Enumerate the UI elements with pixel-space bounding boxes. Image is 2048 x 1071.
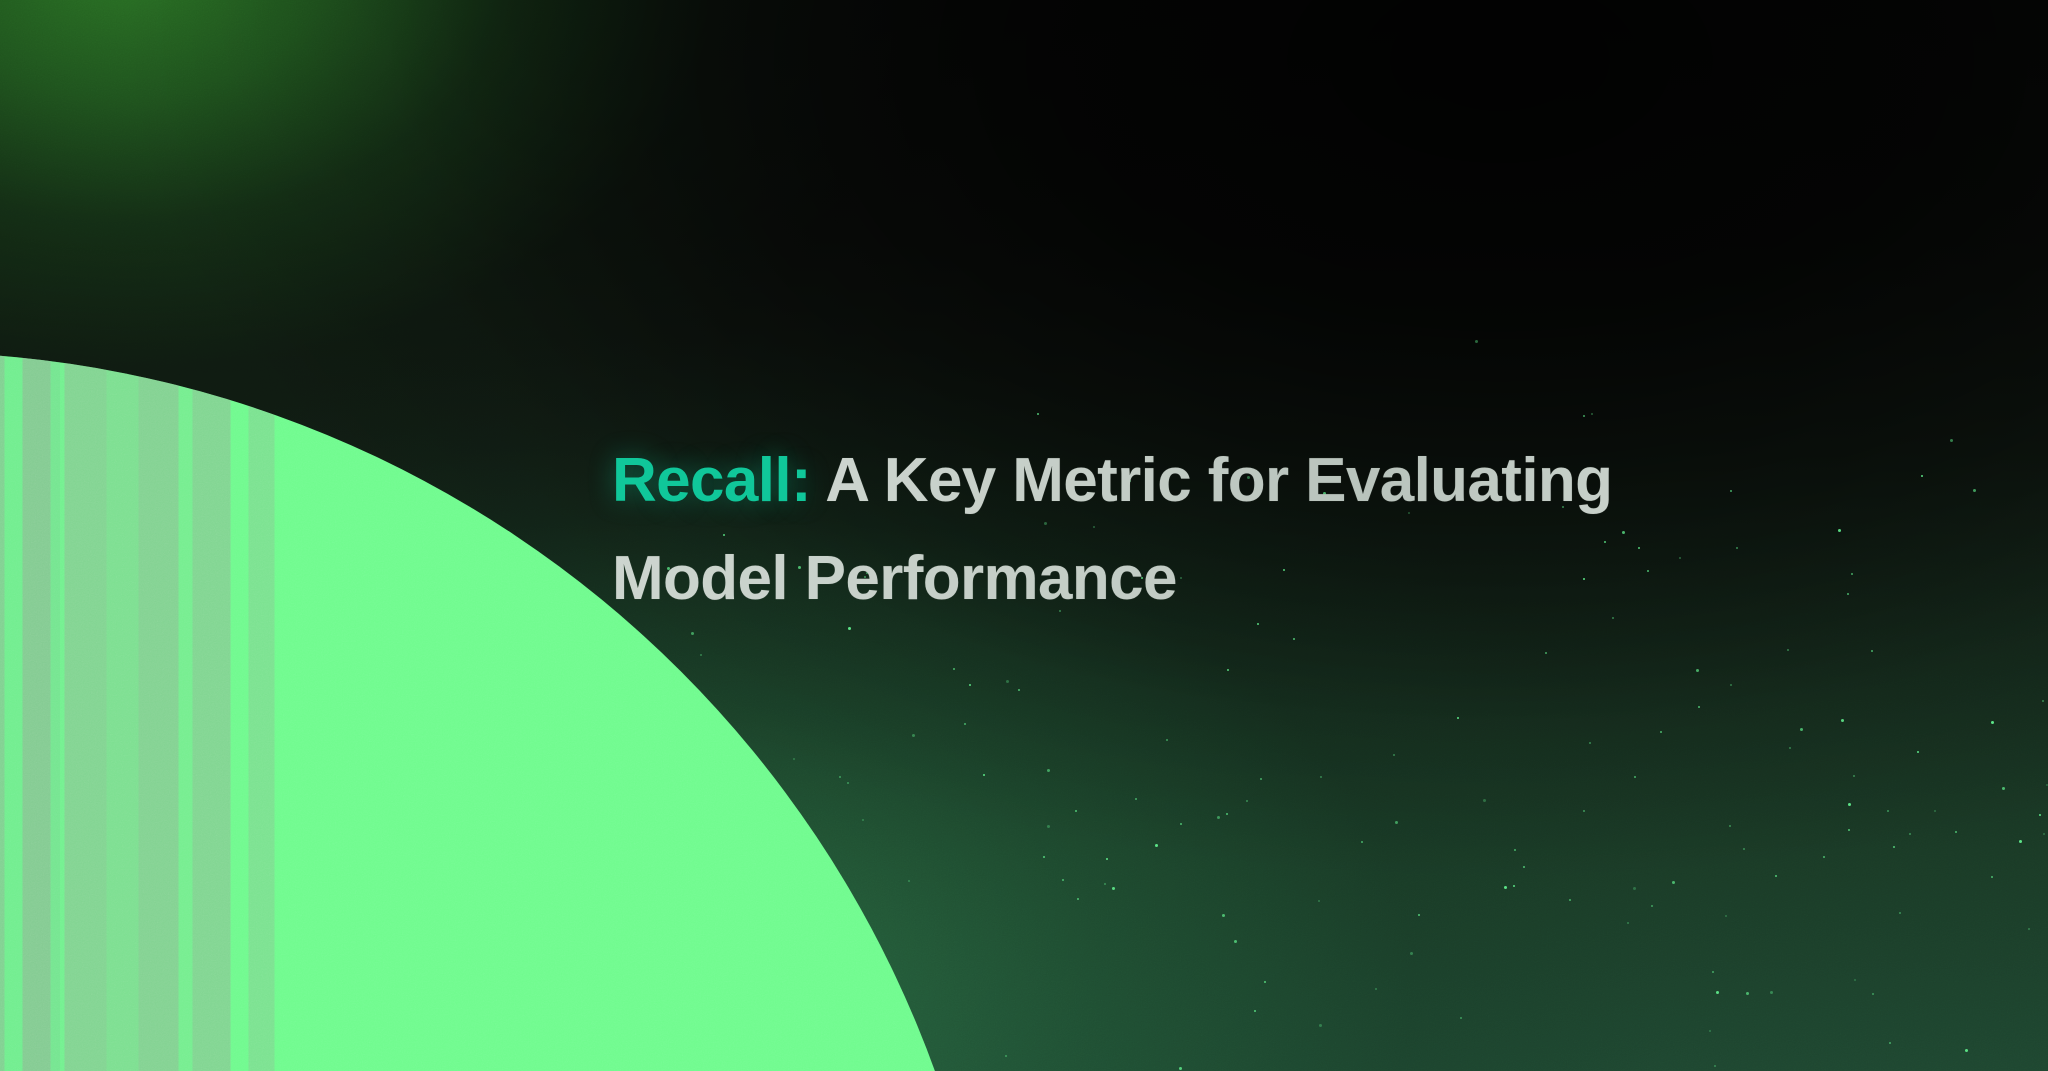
particle-dot xyxy=(1634,776,1636,778)
particle-dot xyxy=(1909,833,1911,835)
particle-dot xyxy=(1696,669,1699,672)
particle-dot xyxy=(1504,886,1507,889)
particle-dot xyxy=(1166,739,1168,741)
particle-dot xyxy=(793,758,795,760)
particle-dot xyxy=(1887,810,1889,812)
particle-dot xyxy=(1973,489,1976,492)
particle-dot xyxy=(1917,751,1919,753)
particle-dot xyxy=(2039,814,2041,816)
particle-dot xyxy=(1729,825,1731,827)
particle-dot xyxy=(1062,879,1064,881)
particle-dot xyxy=(1770,991,1773,994)
page-title-line-1: Recall: A Key Metric for Evaluating xyxy=(612,432,1902,530)
particle-dot xyxy=(1725,915,1727,917)
particle-dot xyxy=(1583,810,1585,812)
particle-dot xyxy=(1848,829,1850,831)
particle-dot xyxy=(1893,846,1895,848)
particle-dot xyxy=(1889,1042,1891,1044)
particle-dot xyxy=(1418,914,1420,916)
particle-dot xyxy=(1104,883,1106,885)
particle-dot xyxy=(1698,706,1700,708)
particle-dot xyxy=(1871,650,1873,652)
particle-dot xyxy=(1246,800,1248,802)
particle-dot xyxy=(2028,928,2030,930)
particle-dot xyxy=(1395,821,1398,824)
particle-dot xyxy=(1043,856,1045,858)
particle-dot xyxy=(1965,1049,1968,1052)
particle-dot xyxy=(1775,875,1777,877)
particle-dot xyxy=(1955,831,1957,833)
particle-dot xyxy=(2046,784,2048,786)
particle-dot xyxy=(1514,849,1516,851)
particle-dot xyxy=(1651,905,1653,907)
particle-dot xyxy=(1513,885,1515,887)
particle-dot xyxy=(1375,988,1377,990)
particle-dot xyxy=(1475,340,1478,343)
particle-dot xyxy=(1899,912,1901,914)
particle-dot xyxy=(2042,700,2044,702)
particle-dot xyxy=(1457,717,1459,719)
particle-dot xyxy=(1226,813,1228,815)
particle-dot xyxy=(1523,866,1525,868)
particle-dot xyxy=(1077,898,1079,900)
particle-dot xyxy=(1018,689,1020,691)
particle-dot xyxy=(1921,475,1923,477)
particle-dot xyxy=(839,776,841,778)
particle-dot xyxy=(1591,413,1593,415)
particle-dot xyxy=(1234,940,1237,943)
particle-dot xyxy=(1254,1010,1256,1012)
title-line-1-rest: A Key Metric for Evaluating xyxy=(811,446,1612,515)
particle-dot xyxy=(1460,1017,1462,1019)
particle-dot xyxy=(1260,778,1262,780)
particle-dot xyxy=(953,668,955,670)
particle-dot xyxy=(969,684,971,686)
particle-dot xyxy=(1179,1067,1182,1070)
particle-dot xyxy=(1716,991,1719,994)
particle-dot xyxy=(1005,1055,1007,1057)
page-title-line-2: Model Performance xyxy=(612,530,1902,628)
particle-dot xyxy=(1483,799,1486,802)
particle-dot xyxy=(1319,1024,1322,1027)
particle-dot xyxy=(2019,840,2022,843)
particle-dot xyxy=(912,734,915,737)
particle-dot xyxy=(1222,914,1225,917)
particle-dot xyxy=(1991,721,1994,724)
particle-dot xyxy=(1714,1065,1716,1067)
particle-dot xyxy=(700,654,702,656)
particle-dot xyxy=(1709,1030,1711,1032)
particle-dot xyxy=(1787,649,1789,651)
particle-dot xyxy=(1583,415,1585,417)
particle-dot xyxy=(1746,992,1749,995)
particle-dot xyxy=(2043,833,2045,835)
particle-dot xyxy=(1743,848,1745,850)
particle-dot xyxy=(1848,803,1851,806)
particle-dot xyxy=(1006,680,1009,683)
particle-dot xyxy=(1393,754,1395,756)
particle-dot xyxy=(1135,798,1137,800)
particle-dot xyxy=(2002,787,2005,790)
particle-dot xyxy=(1991,876,1993,878)
title-accent-word: Recall: xyxy=(612,446,811,515)
particle-dot xyxy=(1569,899,1571,901)
particle-dot xyxy=(1789,747,1791,749)
particle-dot xyxy=(862,819,864,821)
particle-dot xyxy=(1800,728,1803,731)
particle-dot xyxy=(908,880,910,882)
particle-dot xyxy=(964,723,966,725)
particle-dot xyxy=(1730,684,1732,686)
green-stripe-artifact xyxy=(0,352,350,1071)
particle-dot xyxy=(1712,971,1714,973)
particle-dot xyxy=(1047,825,1050,828)
particle-dot xyxy=(1841,719,1844,722)
particle-dot xyxy=(1106,858,1108,860)
particle-dot xyxy=(983,774,985,776)
particle-dot xyxy=(1410,952,1413,955)
particle-dot xyxy=(1589,742,1591,744)
particle-dot xyxy=(1217,816,1220,819)
particle-dot xyxy=(1660,731,1662,733)
particle-dot xyxy=(1155,844,1158,847)
particle-dot xyxy=(1872,993,1874,995)
particle-dot xyxy=(1320,776,1322,778)
particle-dot xyxy=(1633,887,1636,890)
particle-dot xyxy=(1293,638,1295,640)
particle-dot xyxy=(1627,922,1629,924)
particle-dot xyxy=(1075,810,1077,812)
particle-dot xyxy=(1361,841,1363,843)
particle-dot xyxy=(1180,823,1182,825)
particle-dot xyxy=(1823,856,1825,858)
hero-title-block: Recall: A Key Metric for Evaluating Mode… xyxy=(612,432,1902,628)
particle-dot xyxy=(1318,900,1320,902)
particle-dot xyxy=(1545,652,1547,654)
particle-dot xyxy=(691,632,694,635)
particle-dot xyxy=(1112,887,1115,890)
hero-banner: Recall: A Key Metric for Evaluating Mode… xyxy=(0,0,2048,1071)
particle-dot xyxy=(1264,981,1266,983)
particle-dot xyxy=(1672,881,1675,884)
particle-dot xyxy=(1227,669,1229,671)
particle-dot xyxy=(847,782,849,784)
particle-dot xyxy=(1853,775,1855,777)
particle-dot xyxy=(1950,439,1953,442)
particle-dot xyxy=(1934,810,1936,812)
particle-dot xyxy=(1037,413,1039,415)
particle-dot xyxy=(1854,979,1856,981)
particle-dot xyxy=(1047,769,1050,772)
